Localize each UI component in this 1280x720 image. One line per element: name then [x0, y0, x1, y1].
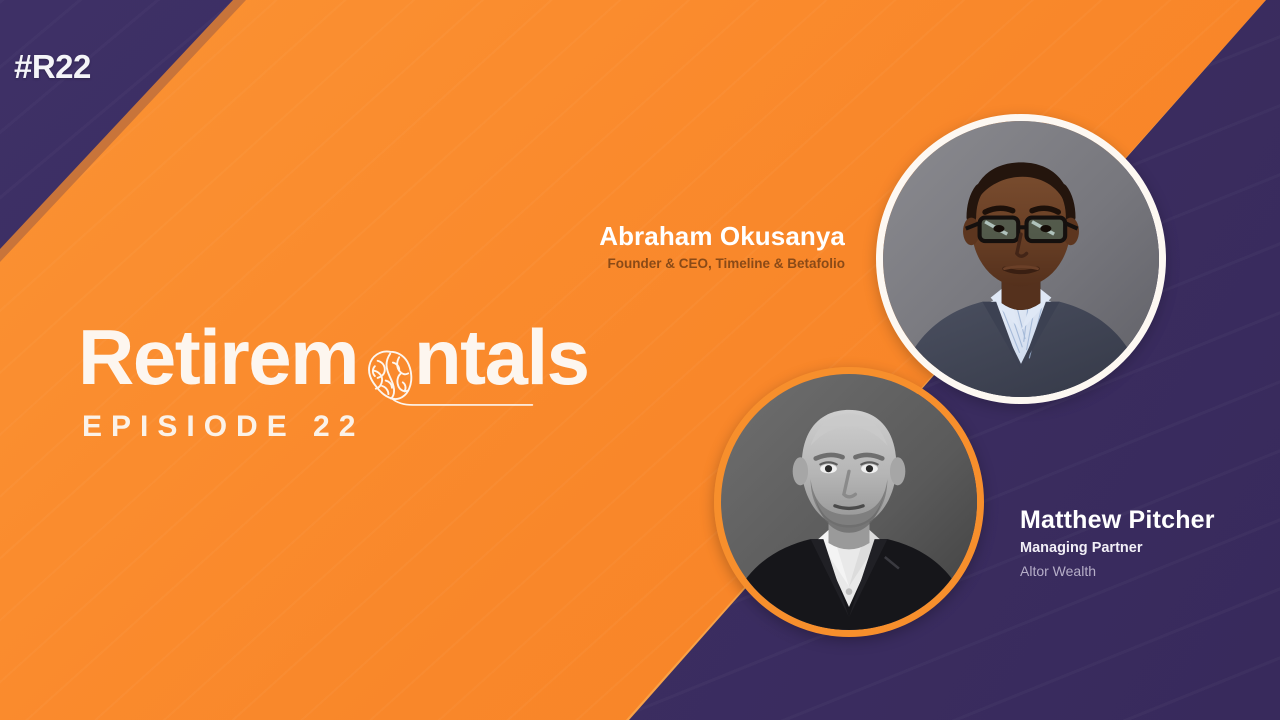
speaker-name-matthew: Matthew Pitcher — [1020, 505, 1215, 535]
logo-word-after: ntals — [414, 313, 589, 401]
speaker-name-abraham: Abraham Okusanya — [599, 222, 845, 252]
episode-label: EPISIODE 22 — [82, 412, 598, 442]
speaker-role-matthew: Managing Partner — [1020, 540, 1215, 557]
episode-title-card: #R22 Retirem — [0, 0, 1280, 720]
logo-wordmark: Retirem — [78, 318, 598, 396]
speaker-info-abraham: Abraham Okusanya Founder & CEO, Timeline… — [599, 222, 845, 272]
speaker-photo-matthew — [714, 367, 984, 637]
speaker-org-matthew: Altor Wealth — [1020, 563, 1215, 580]
episode-badge: #R22 — [14, 50, 91, 83]
speaker-photo-abraham — [876, 114, 1166, 404]
show-logo: Retirem — [78, 318, 598, 442]
logo-word-before: Retirem — [78, 313, 358, 401]
speaker-role-abraham: Founder & CEO, Timeline & Betafolio — [599, 256, 845, 272]
brain-icon — [358, 336, 414, 394]
speaker-info-matthew: Matthew Pitcher Managing Partner Altor W… — [1020, 505, 1215, 580]
